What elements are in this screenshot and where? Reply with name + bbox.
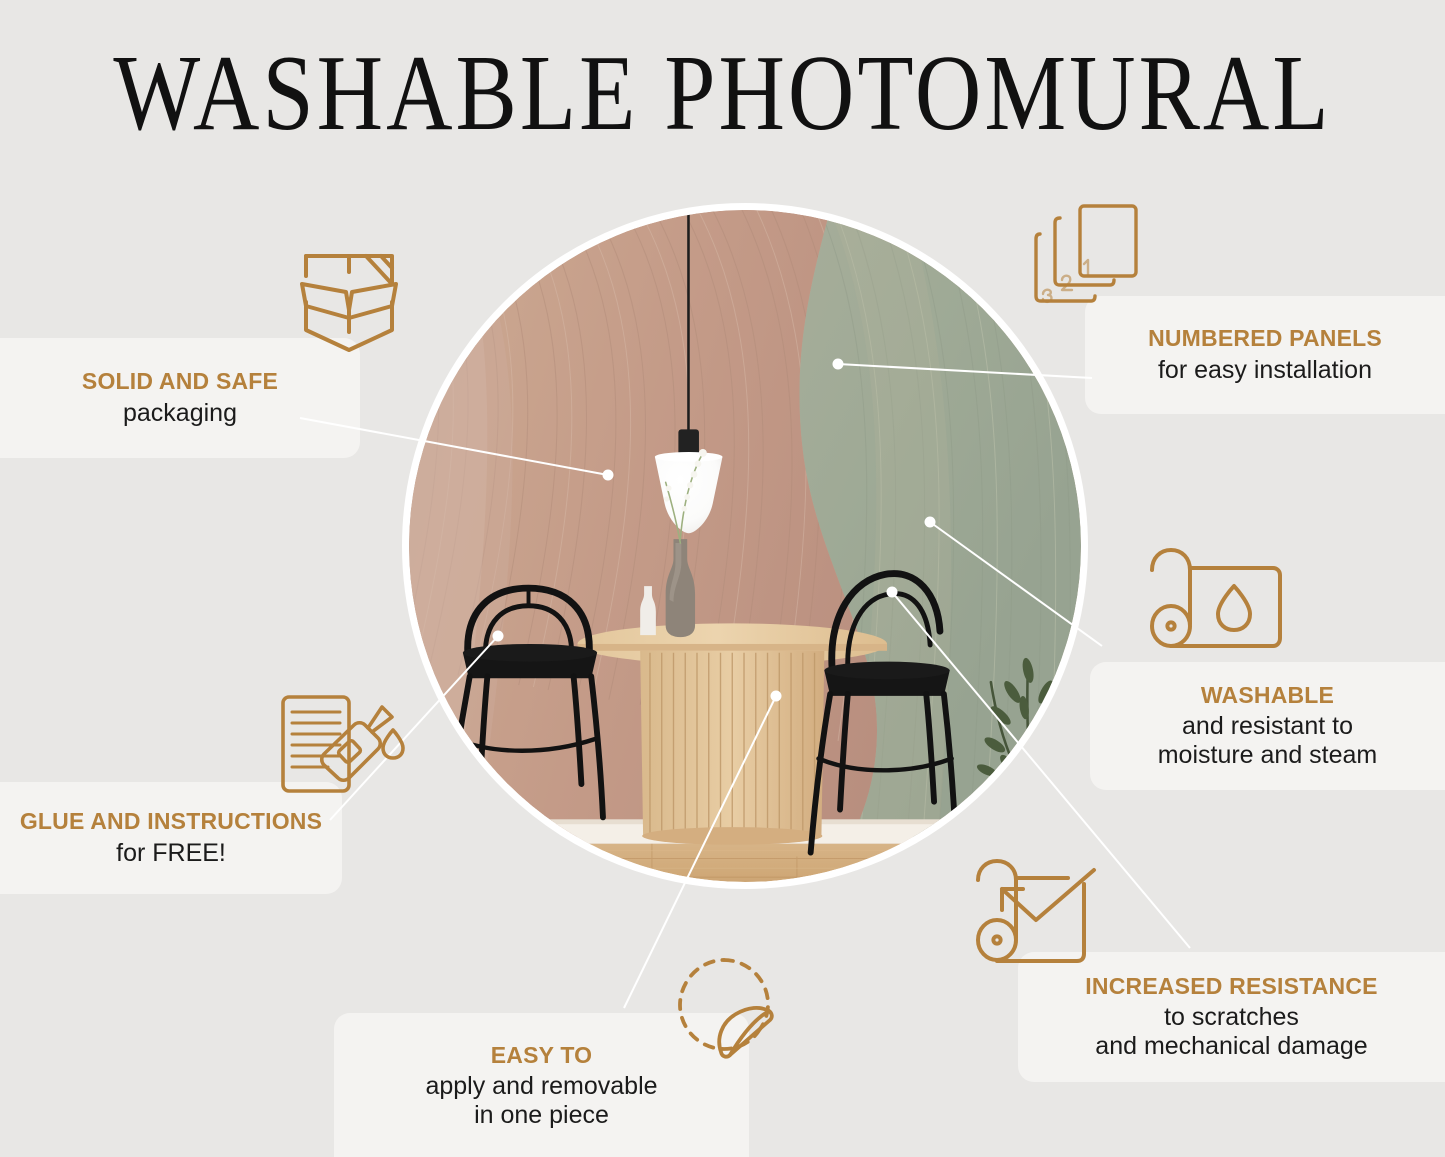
wallpaper-roll-droplet-icon: [1146, 546, 1286, 650]
callout-numbered-panels-subtitle: for easy installation: [1085, 356, 1445, 385]
callout-numbered-panels-title: NUMBERED PANELS: [1085, 325, 1445, 352]
numbered-panels-icon: [1032, 202, 1147, 310]
callout-increased-resistance-title: INCREASED RESISTANCE: [1018, 973, 1445, 1000]
callout-solid-and-safe[interactable]: SOLID AND SAFE packaging: [0, 338, 360, 458]
callout-increased-resistance-subtitle-line2: and mechanical damage: [1018, 1032, 1445, 1061]
callout-increased-resistance-subtitle-line1: to scratches: [1018, 1003, 1445, 1032]
callout-increased-resistance-subtitle: to scratches and mechanical damage: [1018, 1003, 1445, 1061]
callout-easy-to-subtitle-line2: in one piece: [334, 1101, 749, 1130]
infographic-canvas: WASHABLE PHOTOMURAL: [0, 0, 1445, 1157]
callout-numbered-panels[interactable]: NUMBERED PANELS for easy installation: [1085, 296, 1445, 414]
callout-washable-subtitle-line1: and resistant to: [1090, 712, 1445, 741]
callout-solid-and-safe-title: SOLID AND SAFE: [0, 368, 360, 395]
callout-glue-and-instructions-subtitle: for FREE!: [0, 839, 342, 868]
callout-easy-to-subtitle: apply and removable in one piece: [334, 1072, 749, 1130]
interior-photo: [409, 210, 1081, 882]
product-photo-circle: [402, 203, 1088, 889]
glue-bottle-instructions-icon: [278, 692, 410, 796]
callout-washable-title: WASHABLE: [1090, 682, 1445, 709]
open-box-icon: [288, 232, 410, 354]
peeling-sticker-icon: [672, 956, 784, 1066]
callout-washable-subtitle-line2: moisture and steam: [1090, 741, 1445, 770]
page-title: WASHABLE PHOTOMURAL: [0, 36, 1445, 150]
callout-easy-to-subtitle-line1: apply and removable: [334, 1072, 749, 1101]
callout-increased-resistance[interactable]: INCREASED RESISTANCE to scratches and me…: [1018, 952, 1445, 1082]
callout-washable[interactable]: WASHABLE and resistant to moisture and s…: [1090, 662, 1445, 790]
callout-glue-and-instructions[interactable]: GLUE AND INSTRUCTIONS for FREE!: [0, 782, 342, 894]
callout-solid-and-safe-subtitle: packaging: [0, 399, 360, 428]
callout-washable-subtitle: and resistant to moisture and steam: [1090, 712, 1445, 770]
callout-glue-and-instructions-title: GLUE AND INSTRUCTIONS: [0, 808, 342, 835]
wallpaper-roll-arrow-icon: [972, 858, 1102, 966]
